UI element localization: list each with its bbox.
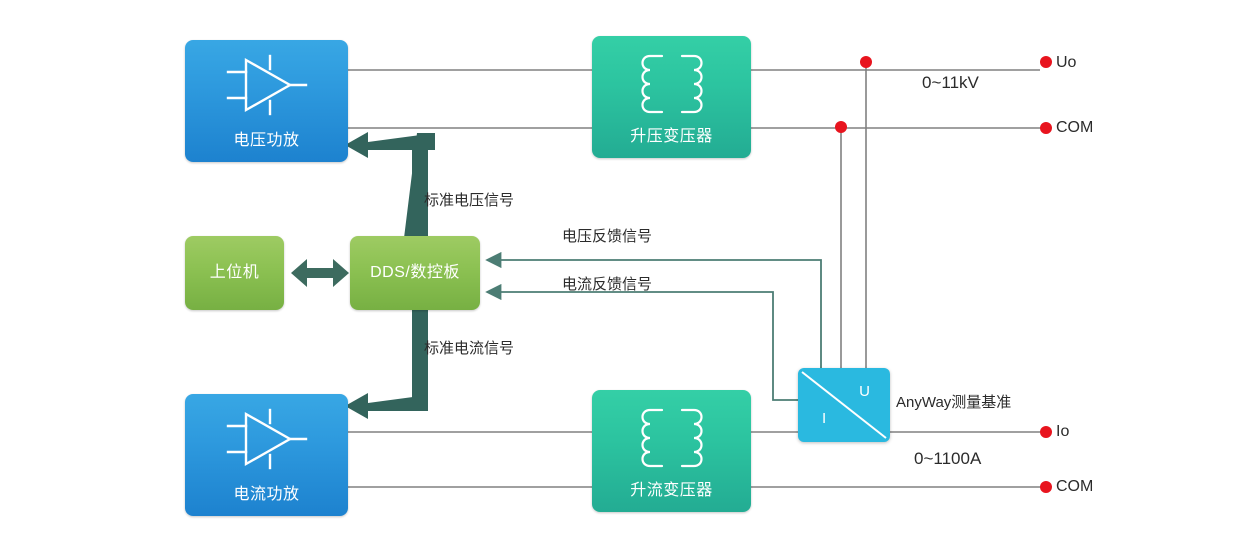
block-label: 升压变压器 <box>592 128 751 146</box>
label-current-feedback-signal: 电流反馈信号 <box>562 276 652 294</box>
block-label: DDS/数控板 <box>350 264 480 282</box>
block-label: 上位机 <box>185 264 284 282</box>
block-measurement-reference[interactable]: U I <box>798 368 890 442</box>
sense-drop-lines <box>841 62 866 368</box>
label-voltage-feedback-signal: 电压反馈信号 <box>562 228 652 246</box>
label-anyway-measurement-reference: AnyWay测量基准 <box>896 394 1011 412</box>
transformer-icon <box>632 52 712 125</box>
block-step-up-current-transformer[interactable]: 升流变压器 <box>592 390 751 512</box>
terminal-label-com-bottom: COM <box>1056 478 1093 496</box>
amplifier-icon <box>224 408 310 475</box>
terminal-label-uo: Uo <box>1056 54 1076 72</box>
block-host-computer[interactable]: 上位机 <box>185 236 284 310</box>
transformer-icon <box>632 406 712 479</box>
block-dds-board[interactable]: DDS/数控板 <box>350 236 480 310</box>
diagram-canvas: 电压功放 电流功放 <box>0 0 1240 546</box>
label-current-range: 0~1100A <box>914 450 981 468</box>
amplifier-icon <box>224 54 310 121</box>
block-current-amplifier[interactable]: 电流功放 <box>185 394 348 516</box>
diagonal-divider-icon <box>798 368 890 442</box>
terminal-label-com-top: COM <box>1056 119 1093 137</box>
label-voltage-range: 0~11kV <box>922 74 979 92</box>
block-label: 升流变压器 <box>592 482 751 500</box>
terminal-label-io: Io <box>1056 423 1069 441</box>
label-standard-current-signal: 标准电流信号 <box>424 340 514 358</box>
block-label: 电压功放 <box>185 132 348 150</box>
host-dds-double-arrow <box>291 259 349 287</box>
measurement-i-label: I <box>822 411 826 426</box>
measurement-u-label: U <box>859 384 870 399</box>
label-standard-voltage-signal: 标准电压信号 <box>424 192 514 210</box>
feedback-wires <box>487 260 821 400</box>
block-voltage-amplifier[interactable]: 电压功放 <box>185 40 348 162</box>
block-step-up-voltage-transformer[interactable]: 升压变压器 <box>592 36 751 158</box>
block-label: 电流功放 <box>185 486 348 504</box>
